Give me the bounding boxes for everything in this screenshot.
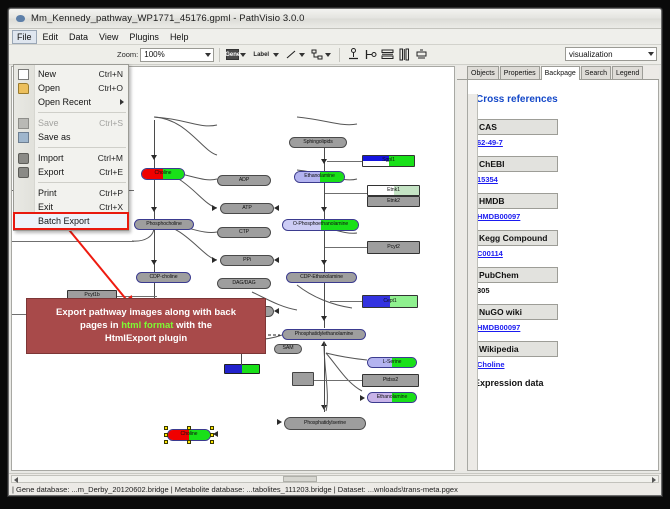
scroll-left-icon[interactable] [14, 477, 18, 483]
datanode-icon[interactable]: Gene [226, 49, 239, 60]
menu-item-save-as[interactable]: Save as [14, 130, 128, 144]
line-dropdown-icon[interactable] [299, 53, 305, 57]
resize-handle-n[interactable] [187, 426, 191, 430]
xref-label-hmdb: HMDB [474, 193, 558, 209]
pathway-gene-pcyt2[interactable]: Pcyt2 [367, 241, 420, 254]
xref-value-cas[interactable]: 62-49-7 [477, 138, 650, 147]
shape-connector-icon[interactable] [309, 47, 324, 62]
resize-handle-ne[interactable] [210, 426, 214, 430]
align-left-icon[interactable] [363, 47, 378, 62]
arrow-to-atp [212, 205, 217, 211]
distribute-vertical-icon[interactable] [380, 47, 395, 62]
connector-pcyt1-link [117, 296, 157, 297]
resize-handle-se[interactable] [210, 440, 214, 444]
save-as-icon [18, 132, 29, 143]
menu-help[interactable]: Help [165, 30, 194, 44]
connector-pcyt2 [324, 247, 368, 248]
callout-line-2b: with the [173, 320, 212, 331]
node-label: Pcyt2 [387, 245, 399, 250]
pathway-node-o-phosphoethanolamine[interactable]: O-Phosphoethanolamine [282, 219, 359, 231]
tab-legend[interactable]: Legend [612, 66, 643, 79]
toolbar: Zoom: 100% Gene Label [9, 45, 661, 65]
menu-item-open[interactable]: Open Ctrl+O [14, 81, 128, 95]
open-folder-icon [18, 83, 29, 94]
xref-label-wikipedia: Wikipedia [474, 341, 558, 357]
connector-left-2 [12, 241, 134, 242]
menu-item-batch-export[interactable]: Batch Export [15, 214, 127, 228]
zoom-label: Zoom: [117, 50, 138, 59]
menu-item-new[interactable]: New Ctrl+N [14, 67, 128, 81]
menu-item-accelerator: Ctrl+N [99, 69, 123, 79]
node-label: Phosphocholine [146, 222, 182, 227]
menu-item-accelerator: Ctrl+X [99, 202, 123, 212]
new-document-icon [18, 69, 29, 80]
align-top-icon[interactable] [346, 47, 361, 62]
scroll-right-icon[interactable] [652, 477, 656, 483]
menu-separator-1 [38, 112, 126, 113]
arrow-from-atp [274, 205, 279, 211]
pathway-node-sam[interactable]: SAM [274, 344, 302, 354]
cross-references-heading: Cross references [476, 94, 650, 105]
resize-handle-sw[interactable] [164, 440, 168, 444]
callout-line-3: HtmlExport plugin [33, 332, 259, 345]
pathway-node-cdp-ethanolamine[interactable]: CDP-Ethanolamine [286, 272, 357, 283]
stack-icon[interactable] [414, 47, 429, 62]
pathvisio-icon [15, 13, 26, 24]
pathway-node-pemt-box[interactable] [292, 372, 314, 386]
xref-label-pubchem: PubChem [474, 267, 558, 283]
node-label: CDP-Ethanolamine [300, 275, 343, 280]
pathvisio-window: Mm_Kennedy_pathway_WP1771_45176.gpml - P… [8, 8, 662, 496]
xref-value-pubchem: 305 [477, 286, 650, 295]
distribute-horizontal-icon[interactable] [397, 47, 412, 62]
pathway-node-l-serine[interactable]: L-Serine [367, 357, 417, 368]
expression-data-heading: Expression data [474, 378, 650, 388]
node-label: Etnk2 [387, 199, 400, 204]
label-dropdown-icon[interactable] [273, 53, 279, 57]
status-text: | Gene database: ...m_Derby_20120602.bri… [12, 485, 658, 494]
pathway-gene-etnk1[interactable]: Etnk1 [367, 185, 420, 196]
node-label: Sphingolipids [303, 140, 333, 145]
menu-item-label: New [38, 69, 56, 79]
menu-item-accelerator: Ctrl+O [98, 83, 123, 93]
arrow-etn-to-pethn [321, 207, 327, 212]
menu-item-label: Open Recent [38, 97, 91, 107]
chevron-down-icon [648, 52, 654, 56]
status-bar: | Gene database: ...m_Derby_20120602.bri… [9, 473, 661, 495]
node-label: ADP [239, 178, 249, 183]
tab-search[interactable]: Search [581, 66, 611, 79]
node-left-bar [225, 365, 242, 373]
menu-item-label: Open [38, 83, 60, 93]
pathway-node-adp[interactable]: ADP [217, 175, 271, 186]
pathway-node-phosphatidylserine[interactable]: Phosphatidylserine [284, 417, 366, 430]
zoom-combo[interactable]: 100% [140, 48, 214, 62]
pathway-gene-sgpl1[interactable]: Sgpl1 [362, 155, 415, 167]
menu-edit[interactable]: Edit [38, 30, 64, 44]
tab-backpage[interactable]: Backpage [541, 66, 580, 80]
arrow-cdpetn-to-pe [321, 316, 327, 321]
screenshot-root: Mm_Kennedy_pathway_WP1771_45176.gpml - P… [0, 0, 670, 509]
menu-item-accelerator: Ctrl+M [98, 153, 123, 163]
arrow-from-cmp [274, 308, 279, 314]
menu-view[interactable]: View [94, 30, 123, 44]
menu-item-label: Import [38, 153, 64, 163]
side-panel: Objects Properties Backpage Search Legen… [457, 66, 659, 471]
connector-etnk [324, 193, 368, 194]
callout-line-2a: pages in [80, 320, 121, 331]
export-icon [18, 167, 29, 178]
connector-sgpl1 [327, 161, 363, 162]
node-label: CTP [239, 230, 249, 235]
xref-label-kegg-compound: Kegg Compound [474, 230, 558, 246]
xref-value-nugo-wiki[interactable]: HMDB00097 [477, 323, 650, 332]
menu-item-import[interactable]: Import Ctrl+M [14, 151, 128, 165]
xref-value-kegg-compound[interactable]: C00114 [477, 249, 650, 258]
visualization-combo[interactable]: visualization [565, 47, 657, 61]
save-disk-icon [18, 118, 29, 129]
shape-dropdown-icon[interactable] [325, 53, 331, 57]
resize-handle-w[interactable] [164, 433, 168, 437]
menu-item-exit[interactable]: Exit Ctrl+X [14, 200, 128, 214]
node-label: SAM [283, 346, 294, 351]
pathway-node-phosphocholine[interactable]: Phosphocholine [134, 219, 194, 230]
tab-objects[interactable]: Objects [467, 66, 499, 79]
node-label: L-Serine [383, 360, 402, 365]
arrow-from-ppi [274, 257, 279, 263]
arrow-from-choline-selected [213, 431, 218, 437]
pathway-node-ethanolamine-2[interactable]: Ethanolamine [367, 392, 417, 403]
menu-item-open-recent[interactable]: Open Recent [14, 95, 128, 109]
xref-value-chebi[interactable]: 15354 [477, 175, 650, 184]
node-label: PPi [243, 258, 251, 263]
annotation-callout: Export pathway images along with back pa… [26, 298, 266, 354]
label-icon[interactable]: Label [250, 47, 272, 62]
scrollbar-thumb[interactable] [283, 476, 317, 482]
chevron-down-icon [205, 53, 211, 57]
menu-item-accelerator: Ctrl+S [99, 118, 123, 128]
xref-label-nugo-wiki: NuGO wiki [474, 304, 558, 320]
menu-item-save: Save Ctrl+S [14, 116, 128, 130]
node-label: Ethanolamine [304, 174, 335, 179]
node-label: Sgpl1 [382, 158, 395, 163]
connector-ptdss2 [308, 380, 363, 381]
node-label: Phosphatidylserine [304, 421, 346, 426]
xref-value-wikipedia[interactable]: Choline [477, 360, 650, 369]
menu-item-label: Batch Export [38, 216, 90, 226]
node-label: CDP-choline [149, 275, 177, 280]
toolbar-separator [219, 48, 220, 62]
arrow-sphingo-to-etn [321, 159, 327, 164]
node-label: O-Phosphoethanolamine [293, 222, 348, 227]
menu-file[interactable]: File [12, 30, 37, 44]
pathway-gene-cept1[interactable]: Cept1 [362, 295, 418, 308]
node-label: Choline [181, 432, 198, 437]
menu-item-label: Print [38, 188, 57, 198]
node-label: Cept1 [383, 299, 396, 304]
xref-value-hmdb[interactable]: HMDB00097 [477, 212, 650, 221]
xref-label-cas: CAS [474, 119, 558, 135]
node-label: DAG/DAG [232, 281, 255, 286]
visualization-value: visualization [569, 50, 613, 59]
node-label: Choline [155, 171, 172, 176]
node-label: Etnk1 [387, 188, 400, 193]
pathway-node-sphingolipids[interactable]: Sphingolipids [289, 137, 347, 148]
window-title: Mm_Kennedy_pathway_WP1771_45176.gpml - P… [31, 13, 305, 24]
arrow-to-ppi [212, 257, 217, 263]
menu-item-export[interactable]: Export Ctrl+E [14, 165, 128, 179]
import-icon [18, 153, 29, 164]
submenu-arrow-icon [120, 99, 124, 105]
pathway-node-pemt[interactable] [224, 364, 260, 374]
panel-splitter[interactable] [468, 94, 478, 470]
pathway-node-cdp-choline[interactable]: CDP-choline [136, 272, 191, 283]
horizontal-scrollbar[interactable] [11, 475, 659, 483]
menu-item-label: Export [38, 167, 64, 177]
menu-item-label: Save as [38, 132, 71, 142]
pathway-node-ctp[interactable]: CTP [217, 227, 271, 238]
menu-item-label: Save [38, 118, 59, 128]
node-label: ATP [242, 206, 251, 211]
file-menu-dropdown[interactable]: New Ctrl+N Open Ctrl+O Open Recent Save … [13, 64, 129, 231]
menu-plugins[interactable]: Plugins [124, 30, 164, 44]
pathway-node-ppi[interactable]: PPi [220, 255, 274, 266]
node-label: Phosphatidylethanolamine [295, 332, 353, 337]
connector-pe-ps [324, 342, 325, 412]
node-label: Ethanolamine [377, 395, 408, 400]
resize-handle-nw[interactable] [164, 426, 168, 430]
menu-data[interactable]: Data [64, 30, 93, 44]
pathway-gene-ptdss2[interactable]: Ptdss2 [362, 374, 419, 387]
arrow-pethn-to-cdpetn [321, 260, 327, 265]
side-panel-tabs: Objects Properties Backpage Search Legen… [457, 66, 659, 80]
menu-item-label: Exit [38, 202, 53, 212]
connector-cept1 [330, 301, 363, 302]
pathway-gene-etnk2[interactable]: Etnk2 [367, 196, 420, 207]
backpage-content[interactable]: Cross references CAS 62-49-7 ChEBI 15354… [467, 80, 659, 471]
xref-label-chebi: ChEBI [474, 156, 558, 172]
menu-separator-3 [38, 182, 126, 183]
arrow-to-phosphatidylserine [277, 419, 282, 425]
menu-item-accelerator: Ctrl+E [99, 167, 123, 177]
callout-highlight: html format [121, 320, 173, 331]
menu-item-accelerator: Ctrl+P [99, 188, 123, 198]
pathway-node-ethanolamine[interactable]: Ethanolamine [294, 171, 345, 183]
pathway-node-choline[interactable]: Choline [141, 168, 185, 180]
node-right-bar [242, 365, 259, 373]
title-bar: Mm_Kennedy_pathway_WP1771_45176.gpml - P… [9, 9, 661, 29]
menu-bar: File Edit Data View Plugins Help [9, 29, 661, 45]
zoom-value: 100% [144, 50, 164, 59]
pathway-node-phosphatidylethanolamine[interactable]: Phosphatidylethanolamine [282, 329, 366, 340]
menu-item-print[interactable]: Print Ctrl+P [14, 186, 128, 200]
node-label: Ptdss2 [383, 378, 398, 383]
arrow-to-ethanolamine-2 [360, 395, 365, 401]
tab-properties[interactable]: Properties [500, 66, 540, 79]
datanode-dropdown-icon[interactable] [240, 53, 246, 57]
resize-handle-s[interactable] [187, 440, 191, 444]
pathway-node-dag[interactable]: DAG/DAG [217, 278, 271, 289]
callout-line-2: pages in html format with the [33, 319, 259, 332]
callout-line-1: Export pathway images along with back [33, 306, 259, 319]
pathway-node-atp[interactable]: ATP [220, 203, 274, 214]
line-icon[interactable] [283, 47, 298, 62]
menu-separator-2 [38, 147, 126, 148]
toolbar-separator-2 [339, 48, 340, 62]
